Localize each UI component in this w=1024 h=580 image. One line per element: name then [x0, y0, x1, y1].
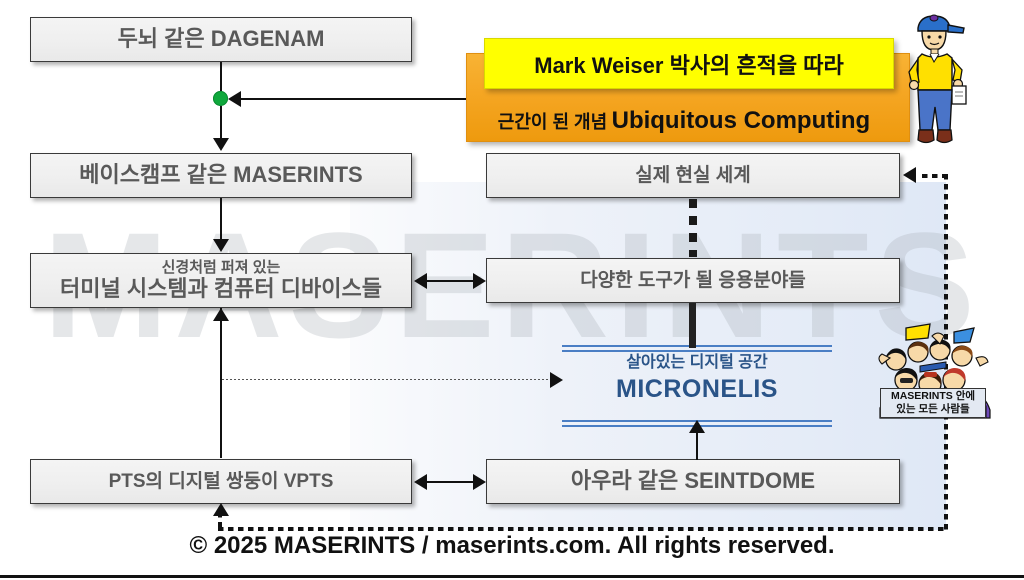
arrowhead-left-to-realworld: [903, 167, 916, 183]
connector-vpts-to-terminal: [220, 308, 222, 458]
green-junction-node: [213, 91, 228, 106]
connector-node-to-maserints: [220, 106, 222, 139]
micronelis-block[interactable]: 살아있는 디지털 공간 MICRONELIS: [562, 352, 832, 420]
connector-vpts-seintdome: [424, 481, 476, 483]
callout-orange-english: Ubiquitous Computing: [612, 107, 871, 134]
arrowhead-up-to-terminal: [213, 308, 229, 321]
arrowhead-down-to-terminal: [213, 239, 229, 252]
box-dagenam[interactable]: 두뇌 같은 DAGENAM: [30, 17, 412, 62]
crowd-label: MASERINTS 안에 있는 모든 사람들: [880, 388, 986, 418]
box-real-world-label: 실제 현실 세계: [635, 165, 750, 186]
box-seintdome[interactable]: 아우라 같은 SEINTDOME: [486, 459, 900, 504]
box-maserints-label: 베이스캠프 같은 MASERINTS: [79, 163, 362, 188]
box-dagenam-label: 두뇌 같은 DAGENAM: [118, 27, 325, 52]
micronelis-subtitle: 살아있는 디지털 공간: [562, 352, 832, 374]
micronelis-top-rule: [562, 345, 832, 352]
callout-orange-text: 근간이 된 개념 Ubiquitous Computing: [467, 107, 901, 135]
arrowhead-down-to-maserints: [213, 138, 229, 151]
arrowhead-right-to-micronelis: [550, 372, 563, 388]
connector-seintdome-to-micronelis: [696, 432, 698, 460]
box-vpts-label: PTS의 디지털 쌍둥이 VPTS: [109, 471, 334, 492]
connector-terminal-applications: [424, 280, 476, 282]
box-maserints[interactable]: 베이스캠프 같은 MASERINTS: [30, 153, 412, 198]
box-vpts[interactable]: PTS의 디지털 쌍둥이 VPTS: [30, 459, 412, 504]
arrowhead-left-terminal: [414, 273, 427, 289]
connector-realworld-to-applications: [689, 199, 697, 257]
worker-cartoon-icon: [900, 12, 970, 152]
box-applications[interactable]: 다양한 도구가 될 응용분야들: [486, 258, 900, 303]
arrowhead-left-to-node: [228, 91, 241, 107]
connector-maserints-to-terminal: [220, 198, 222, 240]
box-terminal-line1: 신경처럼 퍼져 있는: [162, 260, 281, 277]
callout-orange-korean: 근간이 된 개념: [498, 112, 607, 132]
arrowhead-left-vpts: [414, 474, 427, 490]
copyright-footer: © 2025 MASERINTS / maserints.com. All ri…: [0, 532, 1024, 560]
arrowhead-right-applications: [473, 273, 486, 289]
box-applications-label: 다양한 도구가 될 응용분야들: [580, 270, 806, 291]
box-terminal-line2: 터미널 시스템과 컴퓨터 디바이스들: [60, 277, 382, 302]
connector-terminal-to-micronelis-dotted: [222, 379, 552, 380]
callout-yellow-banner[interactable]: Mark Weiser 박사의 흔적을 따라: [484, 38, 894, 89]
micronelis-title: MICRONELIS: [562, 374, 832, 404]
bottom-rule: [0, 575, 1024, 578]
callout-yellow-text: Mark Weiser 박사의 흔적을 따라: [534, 48, 843, 80]
arrowhead-up-to-vpts: [213, 503, 229, 516]
arrowhead-up-to-micronelis: [689, 420, 705, 433]
connector-callout-to-node: [240, 98, 468, 100]
box-real-world[interactable]: 실제 현실 세계: [486, 153, 900, 198]
diagram-canvas: MASERINTS 두뇌 같은 DAGENAM 베이스캠프 같은 MASERIN…: [0, 0, 1024, 580]
connector-applications-to-micronelis: [689, 303, 696, 348]
crowd-label-line1: MASERINTS 안에: [881, 390, 985, 403]
box-terminal-systems[interactable]: 신경처럼 퍼져 있는 터미널 시스템과 컴퓨터 디바이스들: [30, 253, 412, 308]
box-seintdome-label: 아우라 같은 SEINTDOME: [571, 469, 815, 494]
arrowhead-right-seintdome: [473, 474, 486, 490]
crowd-label-line2: 있는 모든 사람들: [881, 403, 985, 416]
loop-dash-bottom: [218, 527, 948, 531]
